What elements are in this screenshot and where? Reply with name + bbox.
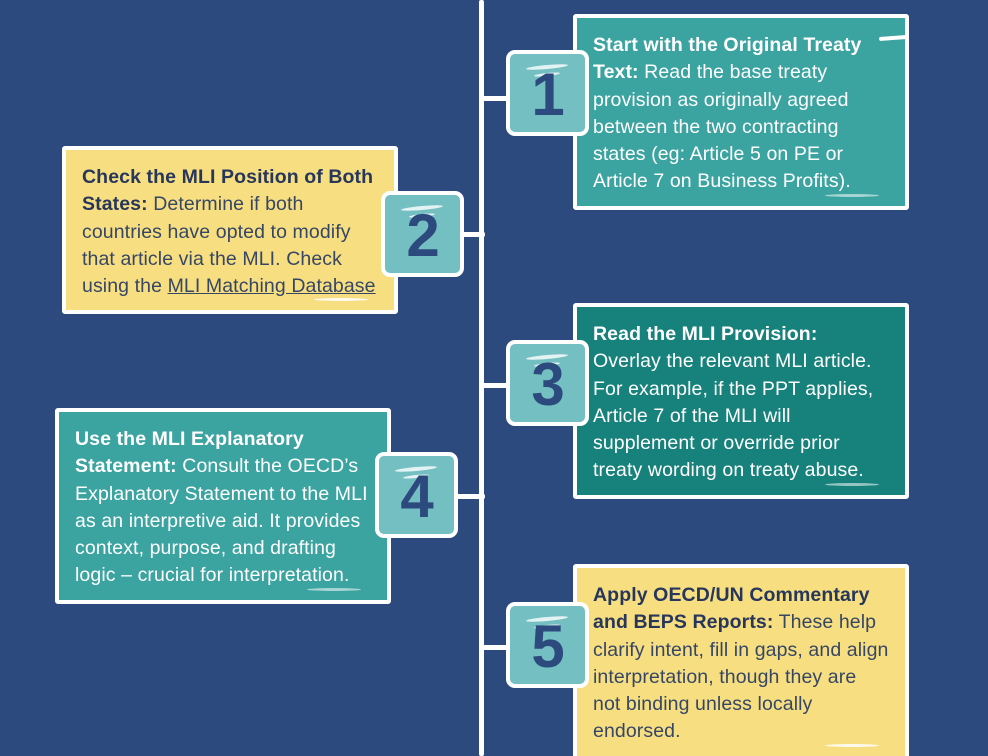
step-3-number: 3 [531, 355, 563, 415]
step-card-5: Apply OECD/UN Commentary and BEPS Report… [573, 564, 909, 756]
step-2-number: 2 [406, 206, 438, 266]
step-number-badge-5: 5 [506, 602, 589, 688]
mli-matching-database-link[interactable]: MLI Matching Database [168, 275, 376, 297]
step-number-badge-1: 1 [506, 50, 589, 136]
step-card-4: Use the MLI Explanatory Statement: Consu… [55, 408, 391, 604]
step-4-number: 4 [400, 467, 432, 527]
step-card-2: Check the MLI Position of Both States: D… [62, 146, 398, 314]
step-number-badge-2: 2 [381, 191, 464, 277]
step-3-body-text: Overlay the relevant MLI article. For ex… [593, 350, 873, 481]
step-card-1: Start with the Original Treaty Text: Rea… [573, 14, 909, 210]
step-number-badge-4: 4 [375, 452, 458, 538]
step-number-badge-3: 3 [506, 340, 589, 426]
timeline-spine [479, 0, 484, 756]
infographic-canvas: Start with the Original Treaty Text: Rea… [0, 0, 988, 756]
step-5-number: 5 [531, 617, 563, 677]
step-card-3: Read the MLI Provision: Overlay the rele… [573, 303, 909, 499]
step-3-lead-text: Read the MLI Provision: [593, 323, 817, 345]
step-1-number: 1 [531, 65, 563, 125]
